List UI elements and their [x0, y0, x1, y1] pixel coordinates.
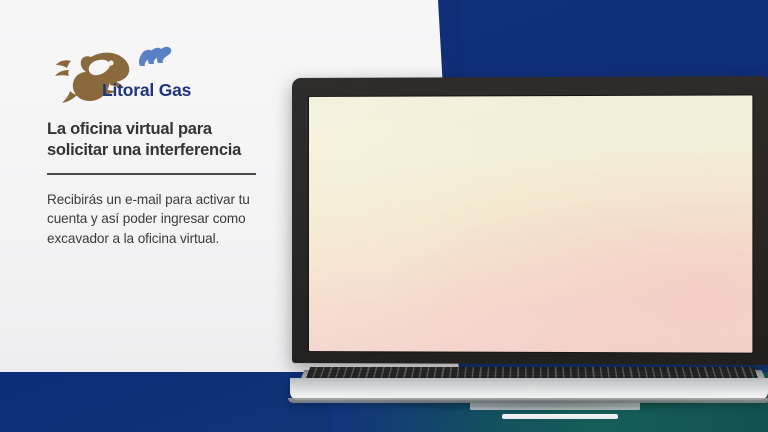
brand-logo: Litoral Gas [47, 44, 247, 106]
base-drop-shadow [314, 402, 764, 412]
laptop-lid [292, 76, 768, 365]
title-divider [47, 173, 256, 175]
page-title: La oficina virtual para solicitar una in… [47, 119, 292, 161]
slide-canvas: Litoral Gas La oficina virtual para soli… [0, 0, 768, 432]
laptop-bezel [308, 94, 753, 353]
body-text: Recibirás un e-mail para activar tu cuen… [47, 190, 287, 248]
laptop-base [284, 356, 768, 404]
palmrest [290, 378, 768, 400]
gas-flame-icon [139, 47, 171, 66]
keyboard-keys[interactable] [306, 367, 758, 378]
brand-wordmark: Litoral Gas [102, 80, 191, 101]
laptop-mockup [284, 70, 768, 410]
headline-line-2: solicitar una interferencia [47, 140, 292, 161]
laptop-screen[interactable] [309, 95, 752, 352]
screen-glare [309, 95, 752, 352]
lid-open-notch [502, 414, 618, 419]
headline-line-1: La oficina virtual para [47, 120, 212, 138]
